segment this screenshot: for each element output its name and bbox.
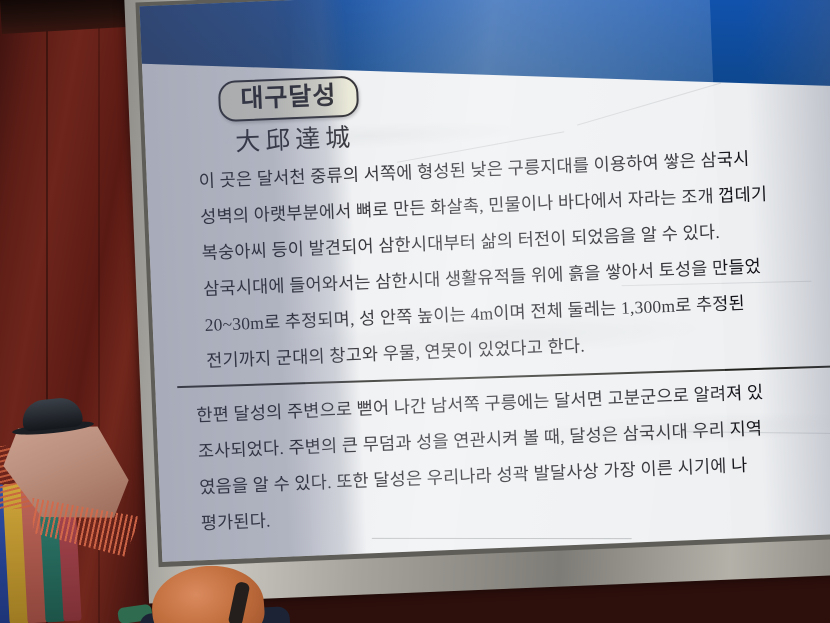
body-line: 평가된다. [200,507,271,535]
dark-cap [21,396,84,432]
sign-frame: 대구달성 大邱達城 이 곳은 달서천 중류의 서쪽에 형성된 낮은 구릉지대를 … [124,0,830,603]
photo-scene: 대구달성 大邱達城 이 곳은 달서천 중류의 서쪽에 형성된 낮은 구릉지대를 … [0,0,830,623]
sign-panel: 대구달성 大邱達城 이 곳은 달서천 중류의 서쪽에 형성된 낮은 구릉지대를 … [140,0,830,562]
foreground-cloth-object [0,395,176,623]
title-badge-korean: 대구달성 [218,75,360,122]
sign-content: 대구달성 大邱達城 이 곳은 달서천 중류의 서쪽에 형성된 낮은 구릉지대를 … [140,0,830,562]
title-hanja: 大邱達城 [234,118,355,159]
body-line: 전기까지 군대의 창고와 우물, 연못이 있었다고 한다. [206,332,586,373]
